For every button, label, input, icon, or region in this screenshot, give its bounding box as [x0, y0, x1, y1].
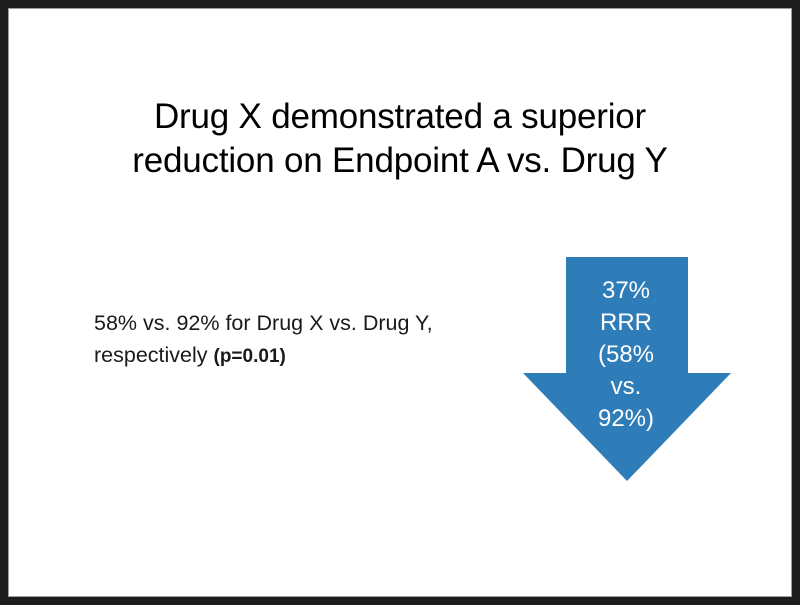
slide-canvas: Drug X demonstrated a superior reduction…: [9, 9, 791, 596]
p-value-text: (p=0.01): [214, 346, 286, 367]
page-title: Drug X demonstrated a superior reduction…: [45, 95, 755, 183]
slide-frame: Drug X demonstrated a superior reduction…: [0, 0, 800, 605]
supporting-statement: 58% vs. 92% for Drug X vs. Drug Y, respe…: [94, 307, 486, 373]
reduction-callout: 37% RRR (58% vs. 92%): [499, 257, 739, 489]
reduction-callout-label: 37% RRR (58% vs. 92%): [499, 275, 739, 435]
